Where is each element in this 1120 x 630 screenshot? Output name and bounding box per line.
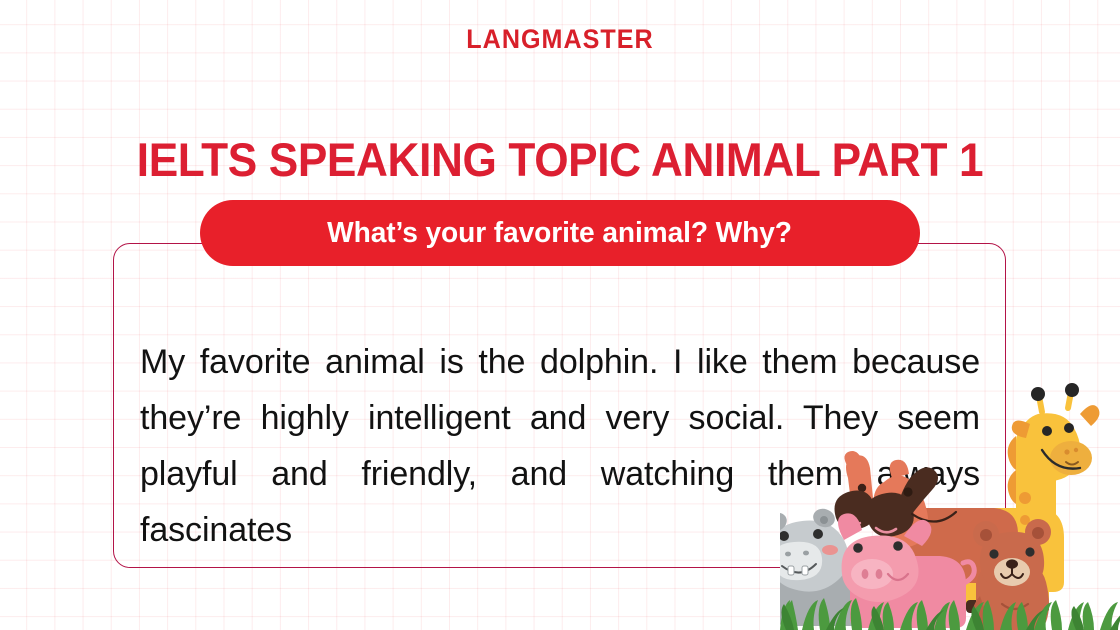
answer-text: My favorite animal is the dolphin. I lik… [140,334,980,614]
question-banner-label: What’s your favorite animal? Why? [328,217,793,250]
poster-canvas: LANGMASTER IELTS SPEAKING TOPIC ANIMAL P… [0,0,1120,630]
brand-logo: LANGMASTER [39,26,1081,53]
page-title: IELTS SPEAKING TOPIC ANIMAL PART 1 [34,135,1087,186]
question-banner: What’s your favorite animal? Why? [200,200,920,266]
